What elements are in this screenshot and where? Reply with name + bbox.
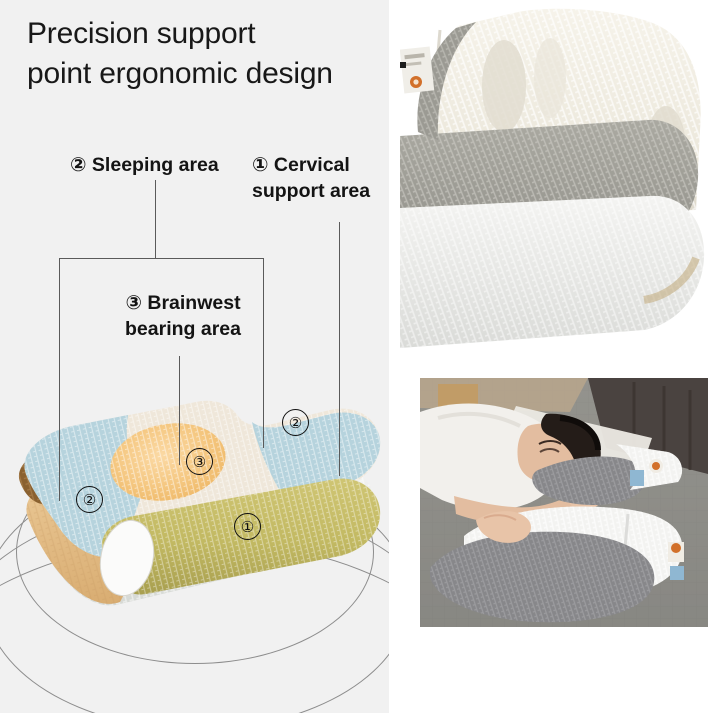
leader-line-brainwest-stem: [179, 356, 180, 465]
callout-label-cervical-support-area: ① Cervical support area: [252, 153, 382, 204]
infographic-page: Precision support point ergonomic design…: [0, 0, 713, 713]
leader-line-sleeping-stem: [155, 180, 156, 258]
callout-label-brainwest-bearing-area: ③ Brainwest bearing area: [103, 291, 263, 342]
zone-badge-sleeping-left: ②: [76, 486, 103, 513]
page-title: Precision support point ergonomic design: [27, 14, 427, 93]
pillow-tag-orange-upper: [652, 462, 660, 470]
leader-line-bracket-left: [59, 258, 60, 501]
lifestyle-photo-woman-sleeping: [420, 378, 708, 627]
leader-line-bracket-right: [263, 258, 264, 448]
pillow-tag-blue-lower: [670, 566, 684, 580]
leader-line-bracket-bar: [59, 258, 263, 259]
pillow-tag-blue-upper: [630, 470, 644, 486]
pillow-tag-orange-lower: [671, 543, 681, 553]
zone-badge-brainwest: ③: [186, 448, 213, 475]
product-photo-stacked-pillows: [400, 0, 713, 366]
leader-line-cervical-stem: [339, 222, 340, 476]
zone-badge-cervical: ①: [234, 513, 261, 540]
callout-label-sleeping-area: ② Sleeping area: [70, 153, 219, 179]
zone-badge-sleeping-right: ②: [282, 409, 309, 436]
